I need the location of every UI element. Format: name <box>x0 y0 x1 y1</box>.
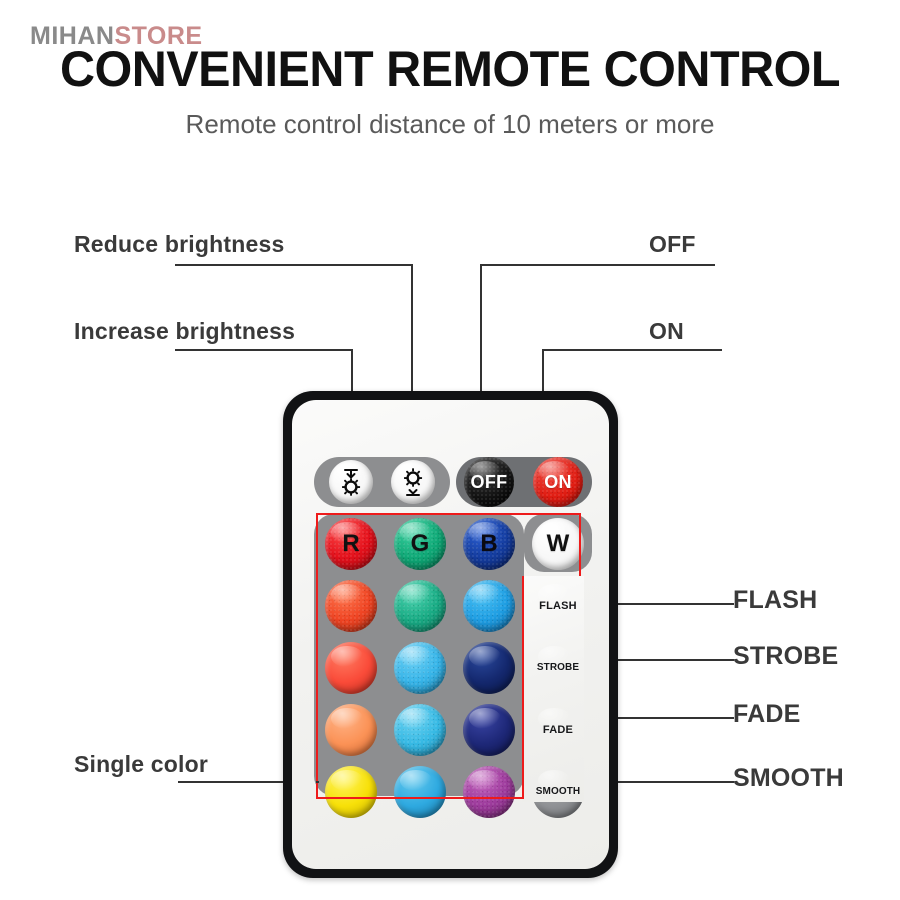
callout-single-color: Single color <box>74 753 208 776</box>
callout-on: ON <box>649 320 684 343</box>
callout-off: OFF <box>649 233 696 256</box>
on-button-label: ON <box>544 473 572 491</box>
callout-strobe: STROBE <box>733 644 838 669</box>
leader-line-reduce-brightness-h <box>175 264 413 266</box>
page-title: CONVENIENT REMOTE CONTROL <box>14 44 887 94</box>
single-color-highlight-lower <box>316 576 524 799</box>
callout-reduce-brightness: Reduce brightness <box>74 233 284 256</box>
color-key-g-label: G <box>411 532 430 556</box>
increase-brightness-button[interactable] <box>391 460 435 504</box>
highlight-anchor <box>316 781 319 783</box>
off-button[interactable]: OFF <box>464 457 514 507</box>
callout-smooth: SMOOTH <box>733 766 844 791</box>
poster-canvas: MIHANSTORE CONVENIENT REMOTE CONTROL Rem… <box>0 0 900 900</box>
leader-line-increase-brightness-h <box>175 349 353 351</box>
callout-fade: FADE <box>733 702 800 727</box>
color-key-w-label: W <box>547 532 570 556</box>
callout-increase-brightness: Increase brightness <box>74 320 295 343</box>
color-key-b-label: B <box>480 532 497 556</box>
page-subtitle: Remote control distance of 10 meters or … <box>0 111 900 137</box>
fade-button-label: FADE <box>543 725 573 736</box>
sun-decrease-icon <box>336 466 366 498</box>
callout-flash: FLASH <box>733 588 817 613</box>
off-button-label: OFF <box>471 473 508 491</box>
flash-button-label: FLASH <box>539 601 577 612</box>
smooth-button-label: SMOOTH <box>536 787 581 797</box>
strobe-button-label: STROBE <box>537 663 579 673</box>
color-key-r-label: R <box>342 532 359 556</box>
sun-increase-icon <box>398 466 428 498</box>
leader-line-off-h <box>480 264 715 266</box>
leader-line-on-h <box>542 349 722 351</box>
reduce-brightness-button[interactable] <box>329 460 373 504</box>
on-button[interactable]: ON <box>533 457 583 507</box>
